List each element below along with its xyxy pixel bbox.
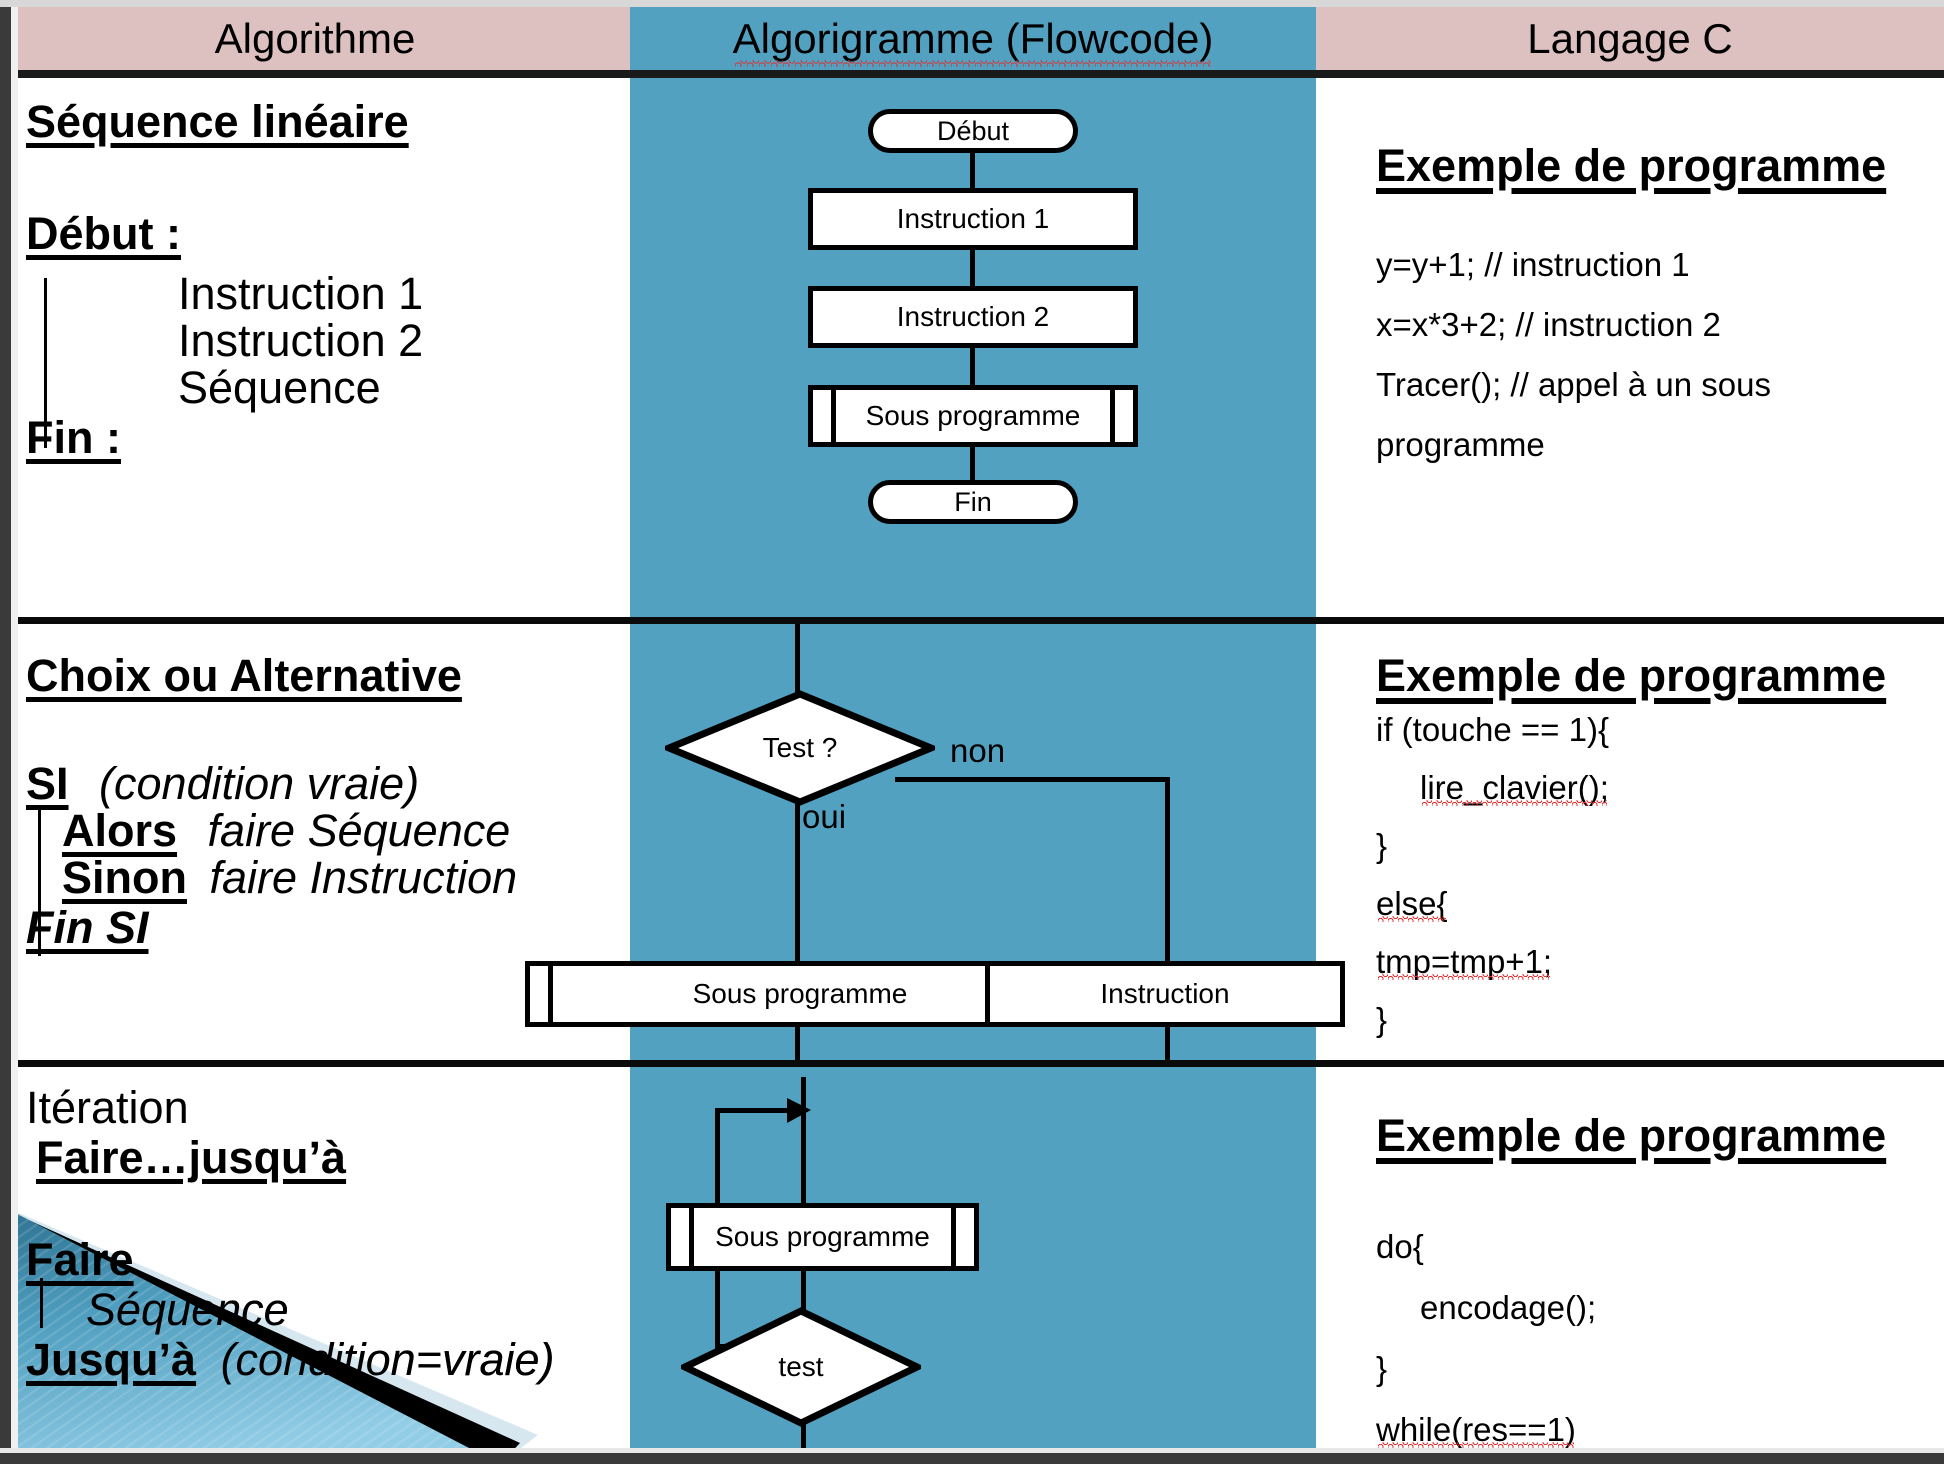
node-label-instruction-1: Instruction 1: [897, 203, 1050, 235]
connector-non-vertical: [1165, 777, 1170, 967]
alternative-code-line-5: tmp=tmp+1;: [1376, 945, 1552, 978]
row-sequence-flowchart-cell: Début Instruction 1 Instruction 2 Sous p…: [630, 78, 1316, 617]
sequence-begin-keyword: Début :: [26, 208, 181, 260]
alternative-alors-keyword: Alors: [62, 805, 177, 856]
node-terminator-fin[interactable]: Fin: [868, 480, 1078, 524]
alternative-code-line-2: lire_clavier();: [1420, 771, 1609, 804]
row-iteration-flowchart-cell: Sous programme test: [630, 1067, 1316, 1464]
alternative-end-keyword: Fin SI: [26, 902, 149, 954]
header-cell-algorigramme: Algorigramme (Flowcode): [630, 7, 1316, 70]
sequence-title: Séquence linéaire: [26, 96, 409, 148]
connector-no-out: [1165, 1024, 1170, 1060]
alternative-sinon-text: faire Instruction: [210, 852, 518, 903]
row-sequence-code-cell: Exemple de programme y=y+1; // instructi…: [1376, 140, 1936, 570]
row-iteration-code-cell: Exemple de programme do{ encodage(); } w…: [1376, 1110, 1936, 1460]
sequence-code-title: Exemple de programme: [1376, 140, 1886, 192]
header-cell-langage-c: Langage C: [1316, 7, 1944, 70]
sequence-body-line-1: Instruction 1: [178, 268, 423, 320]
sequence-end-keyword: Fin :: [26, 412, 121, 464]
frame-edge-left: [0, 0, 11, 1464]
row-divider-2: [0, 1060, 1944, 1067]
connector-yes-out: [795, 1024, 800, 1060]
node-process-instruction-2[interactable]: Instruction 2: [808, 286, 1138, 348]
alternative-alors-text: faire Séquence: [208, 805, 511, 856]
alternative-code-line-4: else{: [1376, 887, 1448, 920]
connector-into-test: [795, 624, 800, 696]
iteration-jusqua-keyword-overlay: Jusqu’à: [26, 1334, 196, 1385]
connector-non-horizontal: [895, 777, 1170, 782]
alternative-code-line-5-text: tmp=tmp+1;: [1376, 945, 1552, 978]
node-terminator-debut[interactable]: Début: [868, 109, 1078, 153]
branch-label-non: non: [950, 732, 1005, 770]
node-subroutine-sous-programme[interactable]: Sous programme: [808, 385, 1138, 447]
sequence-body-line-3: Séquence: [178, 362, 381, 414]
header-label-algorithme: Algorithme: [215, 15, 416, 63]
node-subroutine-loop-body[interactable]: Sous programme: [666, 1203, 979, 1271]
node-label-yes-sous-programme: Sous programme: [693, 978, 908, 1010]
connector-oui-vertical: [795, 802, 800, 967]
alternative-si-line: SI (condition vraie): [26, 758, 419, 810]
alternative-code-line-4-text: else{: [1376, 887, 1448, 920]
loopback-arrow-icon: [785, 1096, 815, 1131]
iteration-code-line-3: }: [1376, 1352, 1387, 1385]
alternative-code-line-1: if (touche == 1){: [1376, 713, 1609, 746]
iteration-code-line-4-text: while(res==1): [1376, 1413, 1576, 1446]
node-label-test: Test ?: [665, 690, 935, 806]
header-cell-algorithme: Algorithme: [0, 7, 630, 70]
alternative-code-title: Exemple de programme: [1376, 650, 1886, 702]
alternative-si-keyword: SI: [26, 758, 69, 809]
connector-debut-to-i1: [970, 148, 975, 193]
row-divider-1: [0, 617, 1944, 624]
iteration-code-title: Exemple de programme: [1376, 1110, 1886, 1162]
alternative-code-line-3: }: [1376, 829, 1387, 862]
node-label-loop-sous-programme: Sous programme: [715, 1221, 930, 1253]
iteration-sequence-text-overlay: Séquence: [86, 1284, 289, 1336]
slide-canvas: Algorithme Algorigramme (Flowcode) Langa…: [0, 0, 1944, 1464]
iteration-code-line-2: encodage();: [1420, 1291, 1596, 1324]
sequence-code-line-3: Tracer(); // appel à un sous: [1376, 368, 1771, 401]
header-label-algorigramme: Algorigramme (Flowcode): [733, 15, 1214, 63]
sequence-code-line-1: y=y+1; // instruction 1: [1376, 248, 1690, 281]
node-label-fin: Fin: [954, 487, 992, 518]
node-label-debut: Début: [937, 116, 1009, 147]
row-sequence-algorithm-cell: Séquence linéaire Début : Instruction 1 …: [26, 96, 626, 596]
iteration-code-line-4: while(res==1): [1376, 1413, 1576, 1446]
header-bottom-rule: [0, 70, 1944, 78]
frame-edge-left-highlight: [11, 0, 18, 1464]
alternative-alors-line: Alors faire Séquence: [62, 805, 510, 857]
alternative-title: Choix ou Alternative: [26, 650, 462, 702]
connector-loopback-top: [715, 1108, 790, 1113]
row-iteration-algorithm-overlay: Faire Séquence Jusqu’à (condition=vraie): [26, 1082, 626, 1464]
frame-edge-bottom: [0, 1453, 1944, 1464]
node-process-no-branch[interactable]: Instruction: [985, 961, 1345, 1027]
sequence-code-line-4: programme: [1376, 428, 1545, 461]
node-label-sous-programme: Sous programme: [866, 400, 1081, 432]
node-label-loop-test: test: [681, 1307, 921, 1427]
header-label-langage-c: Langage C: [1527, 15, 1733, 63]
sequence-body-line-2: Instruction 2: [178, 315, 423, 367]
iteration-code-line-1: do{: [1376, 1230, 1424, 1263]
iteration-block-bar-overlay: [40, 1278, 43, 1328]
row-alternative-flowchart-cell: Test ? non oui Sous programme Instructio…: [630, 624, 1316, 1060]
iteration-jusqua-condition-overlay: (condition=vraie): [221, 1334, 555, 1385]
sequence-code-line-2: x=x*3+2; // instruction 2: [1376, 308, 1721, 341]
frame-edge-top: [0, 0, 1944, 7]
row-alternative-code-cell: Exemple de programme if (touche == 1){ l…: [1376, 650, 1936, 1050]
alternative-code-line-6: }: [1376, 1003, 1387, 1036]
alternative-sinon-keyword: Sinon: [62, 852, 187, 903]
node-process-instruction-1[interactable]: Instruction 1: [808, 188, 1138, 250]
node-label-no-instruction: Instruction: [1100, 978, 1229, 1010]
iteration-jusqua-line-overlay: Jusqu’à (condition=vraie): [26, 1334, 554, 1386]
node-label-instruction-2: Instruction 2: [897, 301, 1050, 333]
header-row: Algorithme Algorigramme (Flowcode) Langa…: [0, 7, 1944, 70]
alternative-sinon-line: Sinon faire Instruction: [62, 852, 517, 904]
alternative-si-condition: (condition vraie): [99, 758, 419, 809]
branch-label-oui: oui: [802, 798, 846, 836]
alternative-code-line-2-text: lire_clavier();: [1420, 771, 1609, 804]
